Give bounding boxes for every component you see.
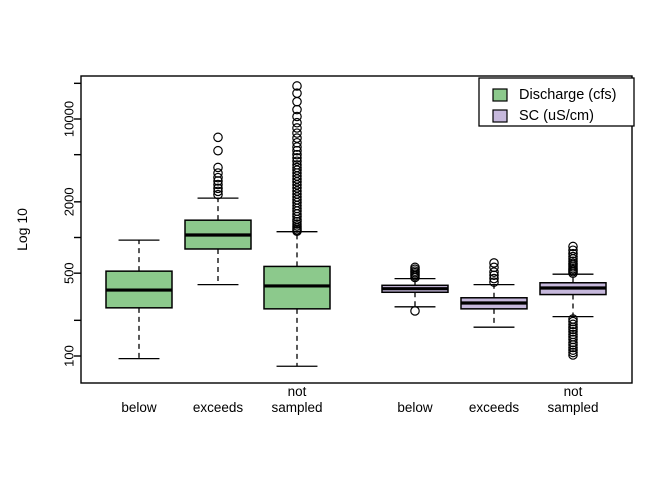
outlier-point bbox=[214, 133, 222, 141]
box-body[interactable] bbox=[264, 266, 330, 308]
box-group-3 bbox=[382, 263, 448, 315]
box-group-0 bbox=[106, 240, 172, 358]
legend-label-1: SC (uS/cm) bbox=[519, 108, 594, 124]
legend: Discharge (cfs)SC (uS/cm) bbox=[479, 78, 634, 126]
chart-canvas: 100500200010000Log 10belowexceedsnotsamp… bbox=[0, 0, 672, 480]
box-group-4 bbox=[461, 259, 527, 327]
x-tick-label: not bbox=[288, 384, 307, 399]
x-tick-label: not bbox=[564, 384, 583, 399]
x-axis: belowexceedsnotsampledbelowexceedsnotsam… bbox=[121, 384, 598, 415]
y-tick-label: 10000 bbox=[62, 101, 77, 137]
outlier-point bbox=[411, 307, 419, 315]
box-group-5 bbox=[540, 242, 606, 359]
x-tick-label: below bbox=[121, 400, 157, 415]
legend-swatch-0[interactable] bbox=[493, 89, 507, 101]
x-tick-label: sampled bbox=[271, 400, 322, 415]
outlier-point bbox=[214, 147, 222, 155]
y-axis: 100500200010000Log 10 bbox=[14, 83, 81, 367]
box-group-2 bbox=[264, 82, 330, 366]
x-tick-label: exceeds bbox=[469, 400, 520, 415]
legend-label-0: Discharge (cfs) bbox=[519, 87, 617, 103]
outlier-point bbox=[214, 163, 222, 171]
y-tick-label: 100 bbox=[62, 345, 77, 367]
box-group-1 bbox=[185, 133, 251, 285]
x-tick-label: exceeds bbox=[193, 400, 244, 415]
y-tick-label: 2000 bbox=[62, 187, 77, 216]
x-tick-label: below bbox=[397, 400, 433, 415]
x-tick-label: sampled bbox=[547, 400, 598, 415]
y-axis-label: Log 10 bbox=[14, 208, 30, 251]
boxplot-figure: 100500200010000Log 10belowexceedsnotsamp… bbox=[0, 0, 672, 480]
outlier-point bbox=[293, 97, 301, 105]
legend-swatch-1[interactable] bbox=[493, 110, 507, 122]
y-tick-label: 500 bbox=[62, 262, 77, 284]
